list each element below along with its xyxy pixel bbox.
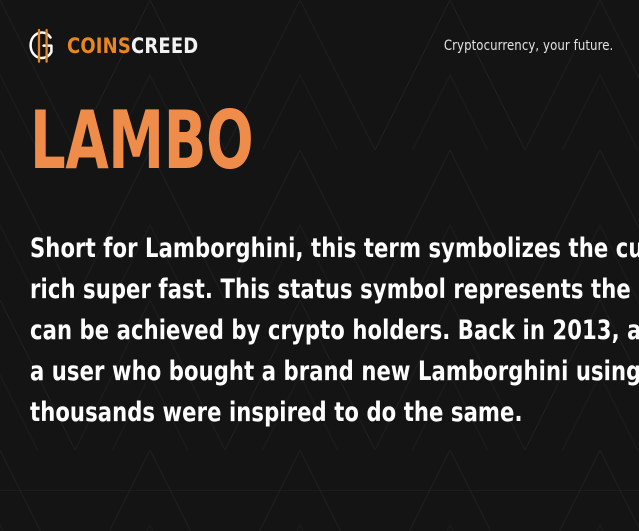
paragraph-line: can be achieved by crypto holders. Back … [30,310,552,351]
wordmark: COINSCREED [67,36,198,57]
tagline: Cryptocurrency, your future. [443,38,613,54]
header: COINSCREED Cryptocurrency, your future. [26,26,613,66]
paragraph-line: rich super fast. This status symbol repr… [30,269,552,310]
page-title: LAMBO [30,100,253,181]
coinscreed-dollar-coin-icon [26,26,58,66]
brand-lockup[interactable]: COINSCREED [26,26,205,66]
card-content: COINSCREED Cryptocurrency, your future. … [0,0,639,531]
paragraph-line: Short for Lamborghini, this term symboli… [30,228,552,269]
body-paragraph: Short for Lamborghini, this term symboli… [30,228,630,433]
wordmark-part-one: COINS [67,34,131,58]
wordmark-part-two: CREED [131,34,198,58]
paragraph-line: thousands were inspired to do the same. [30,392,552,433]
paragraph-line: a user who bought a brand new Lamborghin… [30,351,552,392]
